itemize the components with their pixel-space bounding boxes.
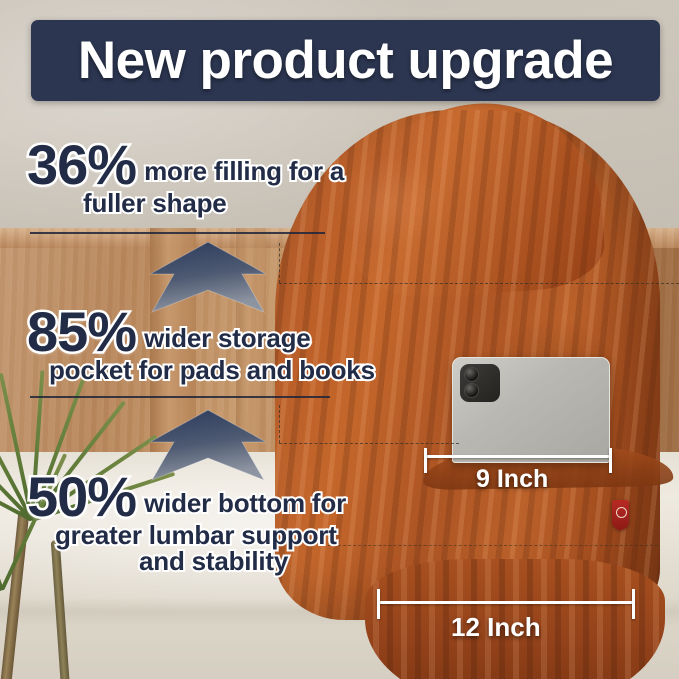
dimension-cap-right (632, 589, 635, 619)
stat-description-line1-50: wider bottom for (144, 489, 346, 523)
title-banner: New product upgrade (31, 20, 660, 101)
dimension-cap-left (424, 448, 427, 473)
stat-underline-85 (30, 396, 330, 398)
leader-line-horizontal-bottom (328, 545, 658, 546)
camera-lens-icon (464, 383, 479, 398)
dimension-label-9-inch: 9 Inch (476, 465, 548, 494)
dimension-label-12-inch: 12 Inch (451, 612, 541, 643)
tablet-camera-module (460, 364, 500, 402)
leader-line-horizontal-middle (279, 443, 459, 444)
stat-description-line2-50: greater lumbar support (55, 521, 346, 549)
leader-line-vertical-middle (279, 405, 280, 443)
stat-description-line1-36: more filling for a (144, 157, 344, 191)
page-title: New product upgrade (78, 34, 613, 87)
dimension-bar (424, 455, 612, 458)
stat-block-50: 50% wider bottom for greater lumbar supp… (27, 470, 346, 575)
dimension-cap-left (377, 589, 380, 619)
stat-percent-85: 85% (27, 305, 136, 358)
stat-description-line2-85: pocket for pads and books (49, 356, 375, 384)
dimension-bar (377, 601, 635, 604)
stat-description-line2-36: fuller shape (83, 189, 344, 217)
dimension-cap-right (609, 448, 612, 473)
stat-description-line1-85: wider storage (144, 324, 310, 358)
brand-tag (612, 500, 629, 530)
tablet-device (452, 357, 610, 463)
stat-description-line3-50: and stability (139, 547, 346, 575)
stat-block-36: 36% more filling for a fuller shape (27, 138, 344, 217)
leader-line-vertical-top (279, 243, 280, 283)
infographic-canvas: New product upgrade 36% more filling for… (0, 0, 679, 679)
stat-percent-36: 36% (27, 138, 136, 191)
camera-lens-icon (464, 367, 479, 382)
stat-underline-36 (30, 232, 325, 234)
leader-line-horizontal-top (279, 283, 679, 284)
stat-percent-50: 50% (27, 470, 136, 523)
stat-block-85: 85% wider storage pocket for pads and bo… (27, 305, 375, 384)
